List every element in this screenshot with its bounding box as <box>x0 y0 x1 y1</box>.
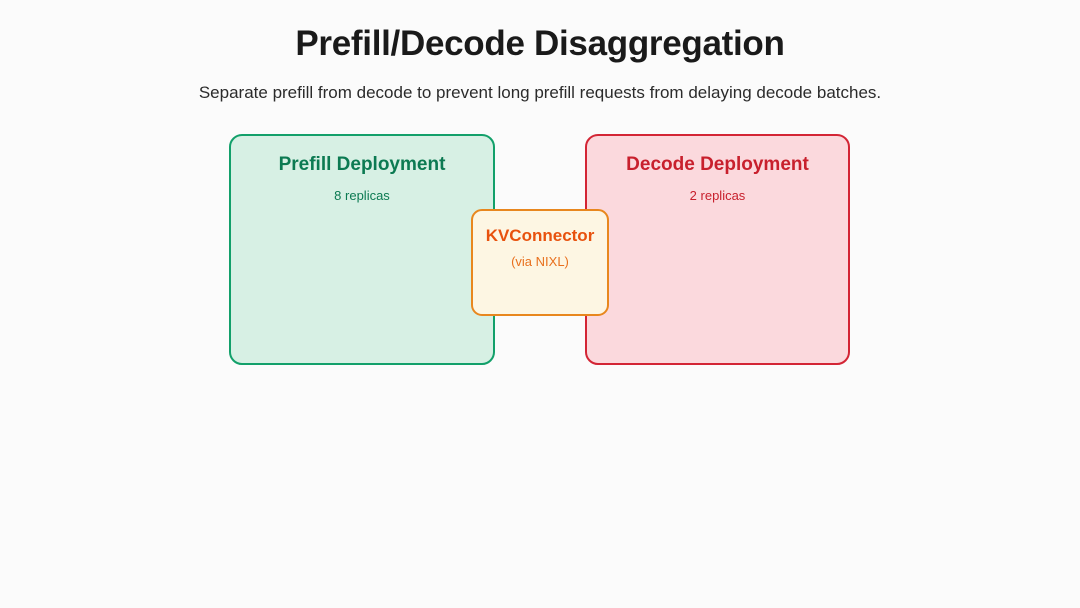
decode-deployment-box: Decode Deployment 2 replicas <box>585 134 850 365</box>
page-subtitle: Separate prefill from decode to prevent … <box>0 83 1080 103</box>
prefill-deployment-replicas: 8 replicas <box>231 188 493 203</box>
diagram-canvas: Prefill/Decode Disaggregation Separate p… <box>0 0 1080 608</box>
kv-connector-title: KVConnector <box>473 226 607 246</box>
prefill-deployment-title: Prefill Deployment <box>231 154 493 176</box>
decode-deployment-replicas: 2 replicas <box>587 188 848 203</box>
kv-connector-box: KVConnector (via NIXL) <box>471 209 609 316</box>
kv-connector-subtitle: (via NIXL) <box>473 254 607 269</box>
page-title: Prefill/Decode Disaggregation <box>0 24 1080 64</box>
decode-deployment-title: Decode Deployment <box>587 154 848 176</box>
prefill-deployment-box: Prefill Deployment 8 replicas <box>229 134 495 365</box>
